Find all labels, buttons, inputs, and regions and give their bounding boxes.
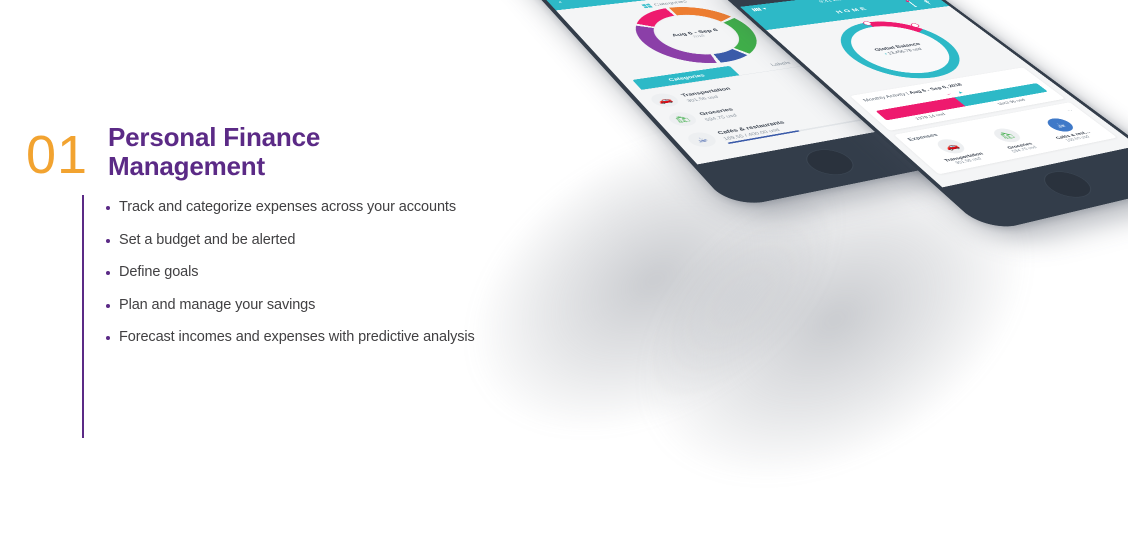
bullet-dot-icon xyxy=(106,239,110,243)
donut-center: Aug 6 - Sep 6 2018 xyxy=(639,11,754,59)
gear-icon[interactable] xyxy=(922,0,937,4)
legend-expense-icon: ─ xyxy=(945,92,953,96)
home-button[interactable] xyxy=(798,146,863,178)
shopping-bag-icon: 🛍 xyxy=(664,111,700,128)
car-icon: 🚗 xyxy=(933,137,970,155)
home-button[interactable] xyxy=(1035,168,1101,201)
notification-dot xyxy=(905,0,910,2)
shopping-bag-icon: 🛍 xyxy=(989,127,1025,144)
signal-icon xyxy=(751,8,762,12)
ring-knob-start[interactable] xyxy=(862,21,874,26)
status-bar-left: ▾ xyxy=(751,6,769,11)
ring-knob-end[interactable] xyxy=(909,23,921,28)
car-icon: 🚗 xyxy=(647,92,683,108)
title-line-2: Management xyxy=(108,152,320,181)
bullet-dot-icon xyxy=(106,271,110,275)
app-bar-title: HOME xyxy=(834,6,870,14)
more-icon[interactable]: … xyxy=(1064,107,1074,112)
slide-number: 01 xyxy=(26,128,88,182)
phone-mockups: ▾ 9:41 AM 100% ‹ EXPENSES Categories xyxy=(470,20,1128,490)
bullet-dot-icon xyxy=(106,206,110,210)
donut-center-sub: 2018 xyxy=(692,34,706,38)
bullet-text: Define goals xyxy=(119,263,198,281)
vertical-divider xyxy=(82,195,84,438)
grid-icon xyxy=(641,4,653,9)
page-title: Personal Finance Management xyxy=(108,123,320,181)
bullet-dot-icon xyxy=(106,304,110,308)
coffee-cup-icon: ☕ xyxy=(683,131,720,149)
bullet-text: Track and categorize expenses across you… xyxy=(119,198,456,216)
chevron-left-icon[interactable]: ‹ xyxy=(556,0,564,4)
bullet-text: Forecast incomes and expenses with predi… xyxy=(119,328,475,346)
legend-income-icon: ▲ xyxy=(955,90,965,94)
ring-center: Global Balance • 13,456.78 usd xyxy=(832,22,969,79)
coffee-cup-icon: ☕ xyxy=(1042,117,1078,133)
bullet-dot-icon xyxy=(106,336,110,340)
balance-ring: Global Balance • 13,456.78 usd xyxy=(818,16,983,85)
bell-icon[interactable] xyxy=(907,0,922,5)
title-line-1: Personal Finance xyxy=(108,122,320,152)
slide-canvas: 01 Personal Finance Management Track and… xyxy=(0,0,1128,500)
app-bar-actions xyxy=(907,0,937,5)
bullet-text: Plan and manage your savings xyxy=(119,296,315,314)
bullet-text: Set a budget and be alerted xyxy=(119,231,295,249)
